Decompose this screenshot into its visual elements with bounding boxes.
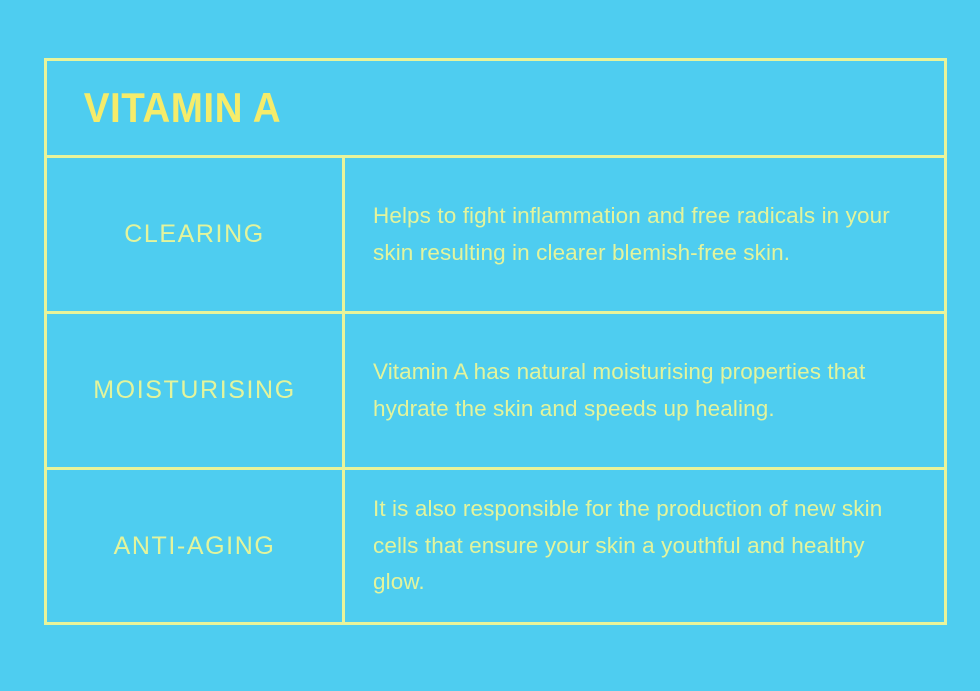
benefit-description-moisturising: Vitamin A has natural moisturising prope… [373, 354, 910, 427]
benefit-label-clearing: CLEARING [47, 158, 345, 311]
table-row: ANTI-AGING It is also responsible for th… [47, 470, 944, 622]
benefit-label-anti-aging: ANTI-AGING [47, 470, 345, 622]
benefit-description-cell: Helps to fight inflammation and free rad… [345, 158, 944, 311]
card-header: VITAMIN A [47, 61, 944, 158]
benefit-description-clearing: Helps to fight inflammation and free rad… [373, 198, 910, 271]
benefit-description-cell: It is also responsible for the productio… [345, 470, 944, 622]
benefit-description-cell: Vitamin A has natural moisturising prope… [345, 314, 944, 467]
vitamin-info-card: VITAMIN A CLEARING Helps to fight inflam… [44, 58, 947, 625]
benefit-description-anti-aging: It is also responsible for the productio… [373, 491, 910, 600]
benefit-label-moisturising: MOISTURISING [47, 314, 345, 467]
page-title: VITAMIN A [47, 87, 281, 129]
table-row: CLEARING Helps to fight inflammation and… [47, 158, 944, 314]
table-row: MOISTURISING Vitamin A has natural moist… [47, 314, 944, 470]
